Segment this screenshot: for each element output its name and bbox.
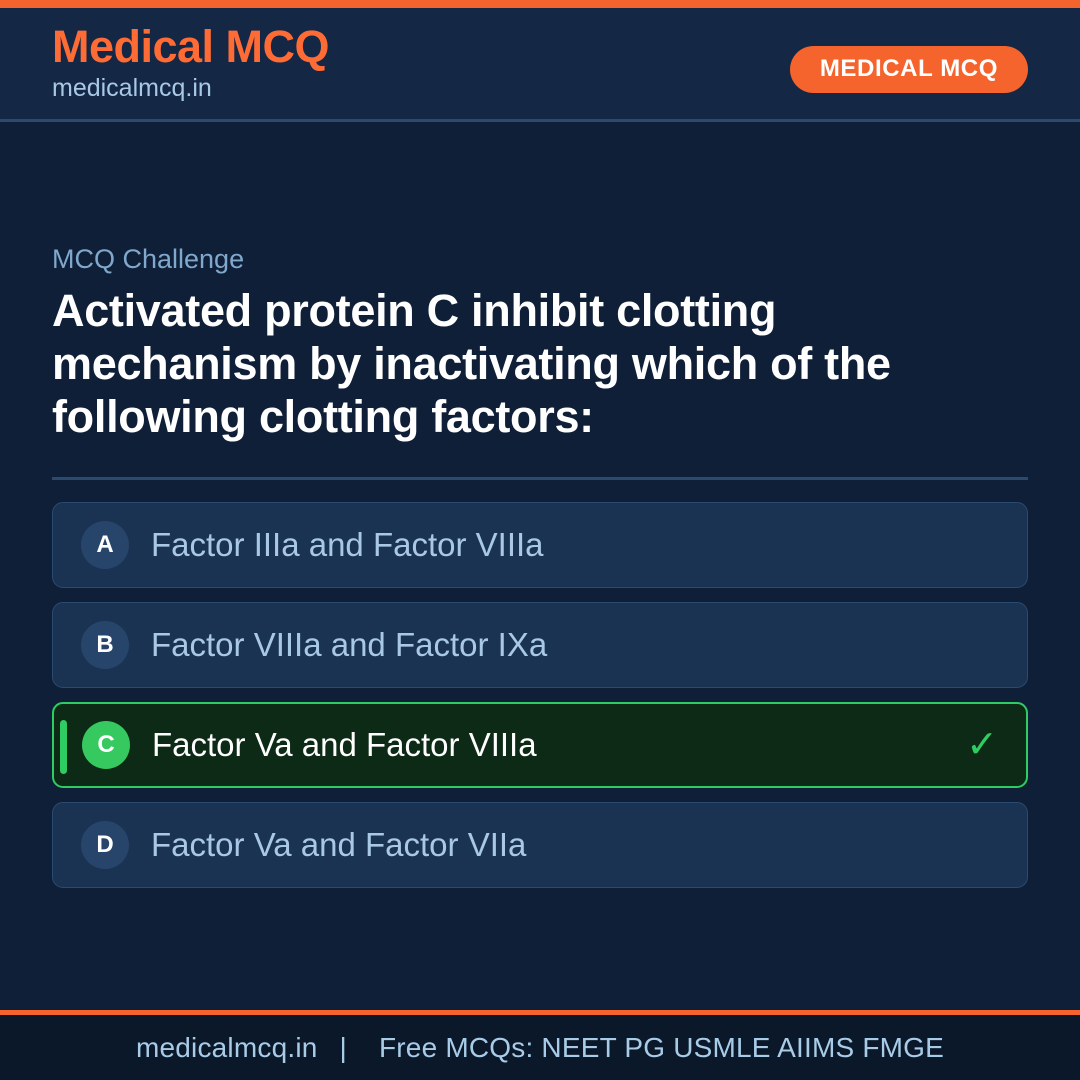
footer-site[interactable]: medicalmcq.in bbox=[136, 1032, 318, 1063]
selected-accent-bar bbox=[60, 720, 67, 774]
main-content: MCQ Challenge Activated protein C inhibi… bbox=[0, 125, 1080, 1010]
question-text: Activated protein C inhibit clotting mec… bbox=[52, 285, 1028, 443]
site-header: Medical MCQ medicalmcq.in MEDICAL MCQ bbox=[0, 8, 1080, 122]
option-a[interactable]: AFactor IIIa and Factor VIIIa✓ bbox=[52, 502, 1028, 588]
option-label: Factor VIIIa and Factor IXa bbox=[151, 627, 547, 663]
option-label: Factor Va and Factor VIIIa bbox=[152, 727, 537, 763]
header-badge[interactable]: MEDICAL MCQ bbox=[790, 46, 1028, 93]
footer-tagline: Free MCQs: NEET PG USMLE AIIMS FMGE bbox=[369, 1032, 944, 1063]
option-letter-badge: A bbox=[81, 521, 129, 569]
site-footer: medicalmcq.in | Free MCQs: NEET PG USMLE… bbox=[0, 1010, 1080, 1080]
option-label: Factor IIIa and Factor VIIIa bbox=[151, 527, 544, 563]
option-d[interactable]: DFactor Va and Factor VIIa✓ bbox=[52, 802, 1028, 888]
options-list: AFactor IIIa and Factor VIIIa✓BFactor VI… bbox=[52, 502, 1028, 888]
option-letter-badge: D bbox=[81, 821, 129, 869]
brand-block: Medical MCQ medicalmcq.in bbox=[52, 24, 329, 104]
brand-title: Medical MCQ bbox=[52, 24, 329, 71]
option-c[interactable]: CFactor Va and Factor VIIIa✓ bbox=[52, 702, 1028, 788]
footer-content: medicalmcq.in | Free MCQs: NEET PG USMLE… bbox=[136, 1034, 944, 1062]
footer-separator: | bbox=[326, 1032, 361, 1063]
brand-subtitle: medicalmcq.in bbox=[52, 73, 329, 104]
option-b[interactable]: BFactor VIIIa and Factor IXa✓ bbox=[52, 602, 1028, 688]
option-letter-badge: C bbox=[82, 721, 130, 769]
correct-check-icon: ✓ bbox=[966, 726, 998, 764]
section-divider bbox=[52, 477, 1028, 480]
option-label: Factor Va and Factor VIIa bbox=[151, 827, 526, 863]
kicker-label: MCQ Challenge bbox=[52, 243, 1028, 275]
top-accent-bar bbox=[0, 0, 1080, 8]
option-letter-badge: B bbox=[81, 621, 129, 669]
question-block: MCQ Challenge Activated protein C inhibi… bbox=[52, 243, 1028, 888]
